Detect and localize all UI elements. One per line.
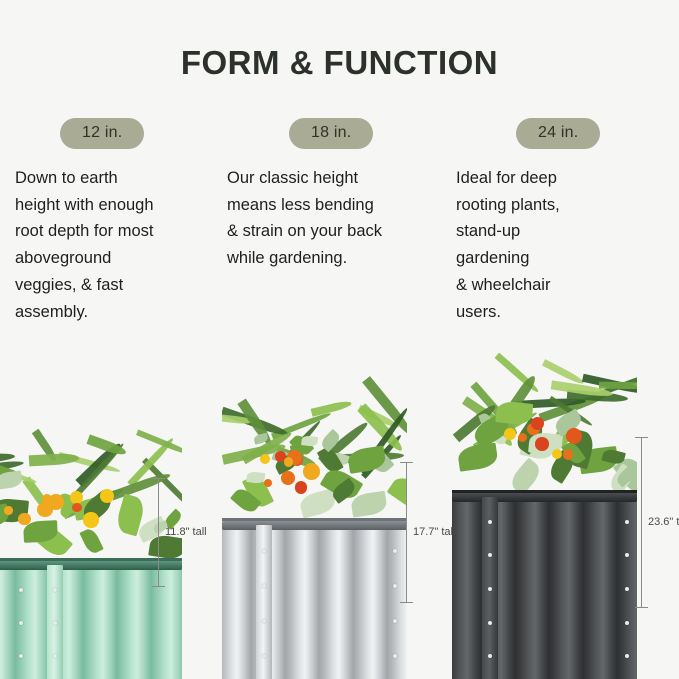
- feature-column-12in: 12 in. Down to earth height with enough …: [15, 118, 220, 325]
- plant-frond: [29, 453, 79, 467]
- plant-flower: [264, 479, 272, 487]
- plant-foliage-12in: [0, 437, 182, 567]
- badge-wrap-18in: 18 in.: [227, 118, 432, 149]
- product-photo-18in: [222, 359, 407, 679]
- product-photo-row: [0, 330, 679, 679]
- dimension-line: [406, 462, 407, 602]
- feature-description-24in: Ideal for deep rooting plants, stand-up …: [456, 165, 661, 325]
- dimension-line: [641, 437, 642, 607]
- feature-columns: 12 in. Down to earth height with enough …: [0, 118, 679, 328]
- dimension-label-18in: 17.7" tall: [413, 526, 455, 538]
- corrugated-panel: [452, 490, 637, 679]
- dimension-cap-top: [152, 478, 165, 479]
- plant-flower: [83, 512, 98, 527]
- planter-box-12in: [0, 561, 182, 679]
- feature-column-18in: 18 in. Our classic height means less ben…: [227, 118, 432, 272]
- planter-box-24in: [452, 493, 637, 679]
- rivet-column: [487, 505, 492, 673]
- rivet-column: [392, 533, 397, 673]
- badge-wrap-12in: 12 in.: [15, 118, 220, 149]
- plant-leaf: [79, 527, 104, 556]
- height-badge-24in: 24 in.: [516, 118, 600, 149]
- dimension-label-12in: 11.8" tall: [165, 526, 207, 538]
- plant-foliage-18in: [222, 397, 407, 527]
- height-badge-12in: 12 in.: [60, 118, 144, 149]
- dimension-cap-bottom: [635, 607, 648, 608]
- plant-flower: [295, 481, 308, 494]
- plant-flower: [284, 457, 294, 467]
- plant-flower: [72, 503, 81, 512]
- plant-frond: [310, 399, 352, 416]
- plant-flower: [281, 471, 295, 485]
- badge-wrap-24in: 24 in.: [456, 118, 661, 149]
- dimension-line: [158, 478, 159, 586]
- feature-description-12in: Down to earth height with enough root de…: [15, 165, 220, 325]
- dimension-cap-bottom: [400, 602, 413, 603]
- box-rim: [0, 561, 182, 570]
- plant-leaf: [456, 442, 498, 471]
- corrugated-panel: [222, 518, 407, 679]
- plant-flower: [4, 506, 12, 514]
- dimension-cap-top: [635, 437, 648, 438]
- plant-frond: [495, 352, 541, 394]
- plant-frond: [599, 381, 637, 389]
- planter-box-18in: [222, 521, 407, 679]
- rivet-column: [624, 505, 629, 673]
- rivet-column: [261, 533, 266, 673]
- plant-foliage-24in: [452, 369, 637, 499]
- product-photo-12in: [0, 379, 182, 679]
- rivet-column: [52, 573, 57, 673]
- box-rim: [452, 493, 637, 502]
- feature-description-18in: Our classic height means less bending & …: [227, 165, 432, 272]
- product-photo-24in: [452, 334, 637, 679]
- plant-flower: [504, 428, 516, 440]
- plant-leaf: [387, 472, 407, 514]
- plant-flower: [100, 489, 115, 504]
- rivet-column: [18, 573, 23, 673]
- feature-column-24in: 24 in. Ideal for deep rooting plants, st…: [456, 118, 661, 325]
- product-feature-graphic: { "page": { "title": "FORM & FUNCTION", …: [0, 0, 679, 679]
- box-rim: [222, 521, 407, 530]
- corrugated-panel: [0, 558, 182, 679]
- page-title: FORM & FUNCTION: [0, 44, 679, 82]
- plant-flower: [303, 463, 320, 480]
- dimension-cap-bottom: [152, 586, 165, 587]
- plant-flower: [260, 454, 270, 464]
- plant-flower: [535, 437, 548, 450]
- dimension-cap-top: [400, 462, 413, 463]
- height-badge-18in: 18 in.: [289, 118, 373, 149]
- plant-flower: [566, 428, 582, 444]
- plant-flower: [563, 449, 574, 460]
- plant-leaf: [0, 471, 22, 490]
- plant-flower: [531, 417, 544, 430]
- dimension-label-24in: 23.6" tall: [648, 516, 679, 528]
- plant-flower: [42, 494, 52, 504]
